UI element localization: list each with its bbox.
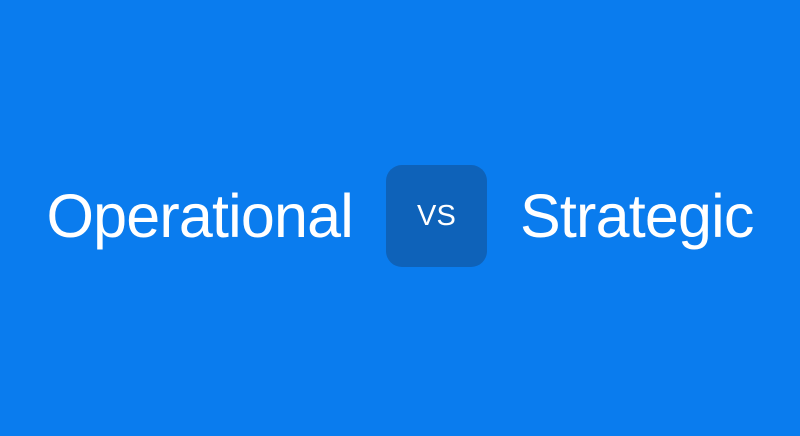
right-term-label: Strategic xyxy=(520,186,754,247)
vs-badge-label: VS xyxy=(417,202,456,231)
left-term-label: Operational xyxy=(46,186,353,247)
comparison-banner: Operational VS Strategic xyxy=(0,0,800,436)
comparison-row: Operational VS Strategic xyxy=(46,165,753,267)
vs-badge: VS xyxy=(386,165,487,267)
